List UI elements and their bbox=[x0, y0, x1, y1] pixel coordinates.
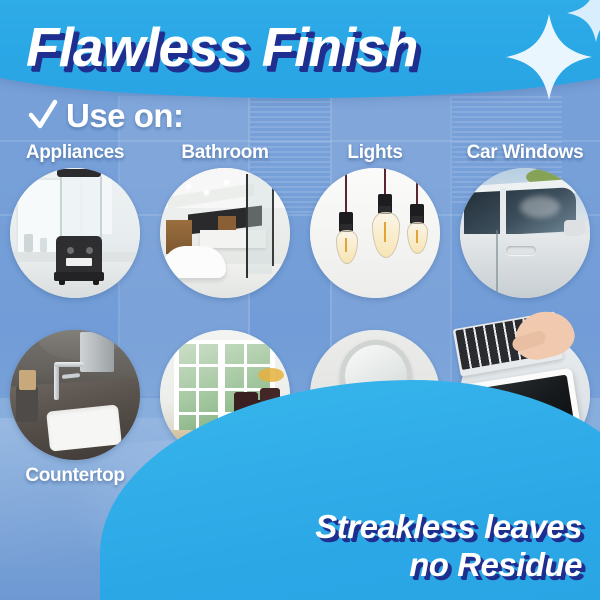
use-on-label: Use on: bbox=[66, 99, 184, 133]
category-lights[interactable]: Lights bbox=[300, 142, 450, 298]
footer-line-1: Streakless leaves bbox=[162, 508, 582, 546]
check-icon bbox=[28, 99, 58, 133]
use-on-heading: Use on: bbox=[28, 99, 184, 133]
footer-line-2: no Residue bbox=[162, 546, 582, 584]
category-label: Lights bbox=[347, 142, 402, 163]
pendant-bulbs-photo bbox=[310, 168, 440, 298]
poster: Flawless Finish Use on: Appliances bbox=[0, 0, 600, 600]
granite-sink-photo bbox=[10, 330, 140, 460]
category-label: Countertop bbox=[25, 465, 124, 486]
page-title: Flawless Finish bbox=[26, 16, 546, 78]
sparkle-icon bbox=[567, 0, 600, 42]
category-label: Bathroom bbox=[181, 142, 268, 163]
category-label: Car Windows bbox=[467, 142, 584, 163]
car-side-window-photo bbox=[460, 168, 590, 298]
category-car-windows[interactable]: Car Windows bbox=[450, 142, 600, 298]
bathroom-interior-photo bbox=[160, 168, 290, 298]
blender-kitchen-photo bbox=[10, 168, 140, 298]
category-label: Appliances bbox=[26, 142, 124, 163]
category-countertop[interactable]: Countertop bbox=[0, 330, 150, 507]
category-row-top: Appliances Bathroom L bbox=[0, 142, 600, 298]
footer-tagline: Streakless leaves no Residue bbox=[162, 508, 582, 584]
category-bathroom[interactable]: Bathroom bbox=[150, 142, 300, 298]
category-appliances[interactable]: Appliances bbox=[0, 142, 150, 298]
